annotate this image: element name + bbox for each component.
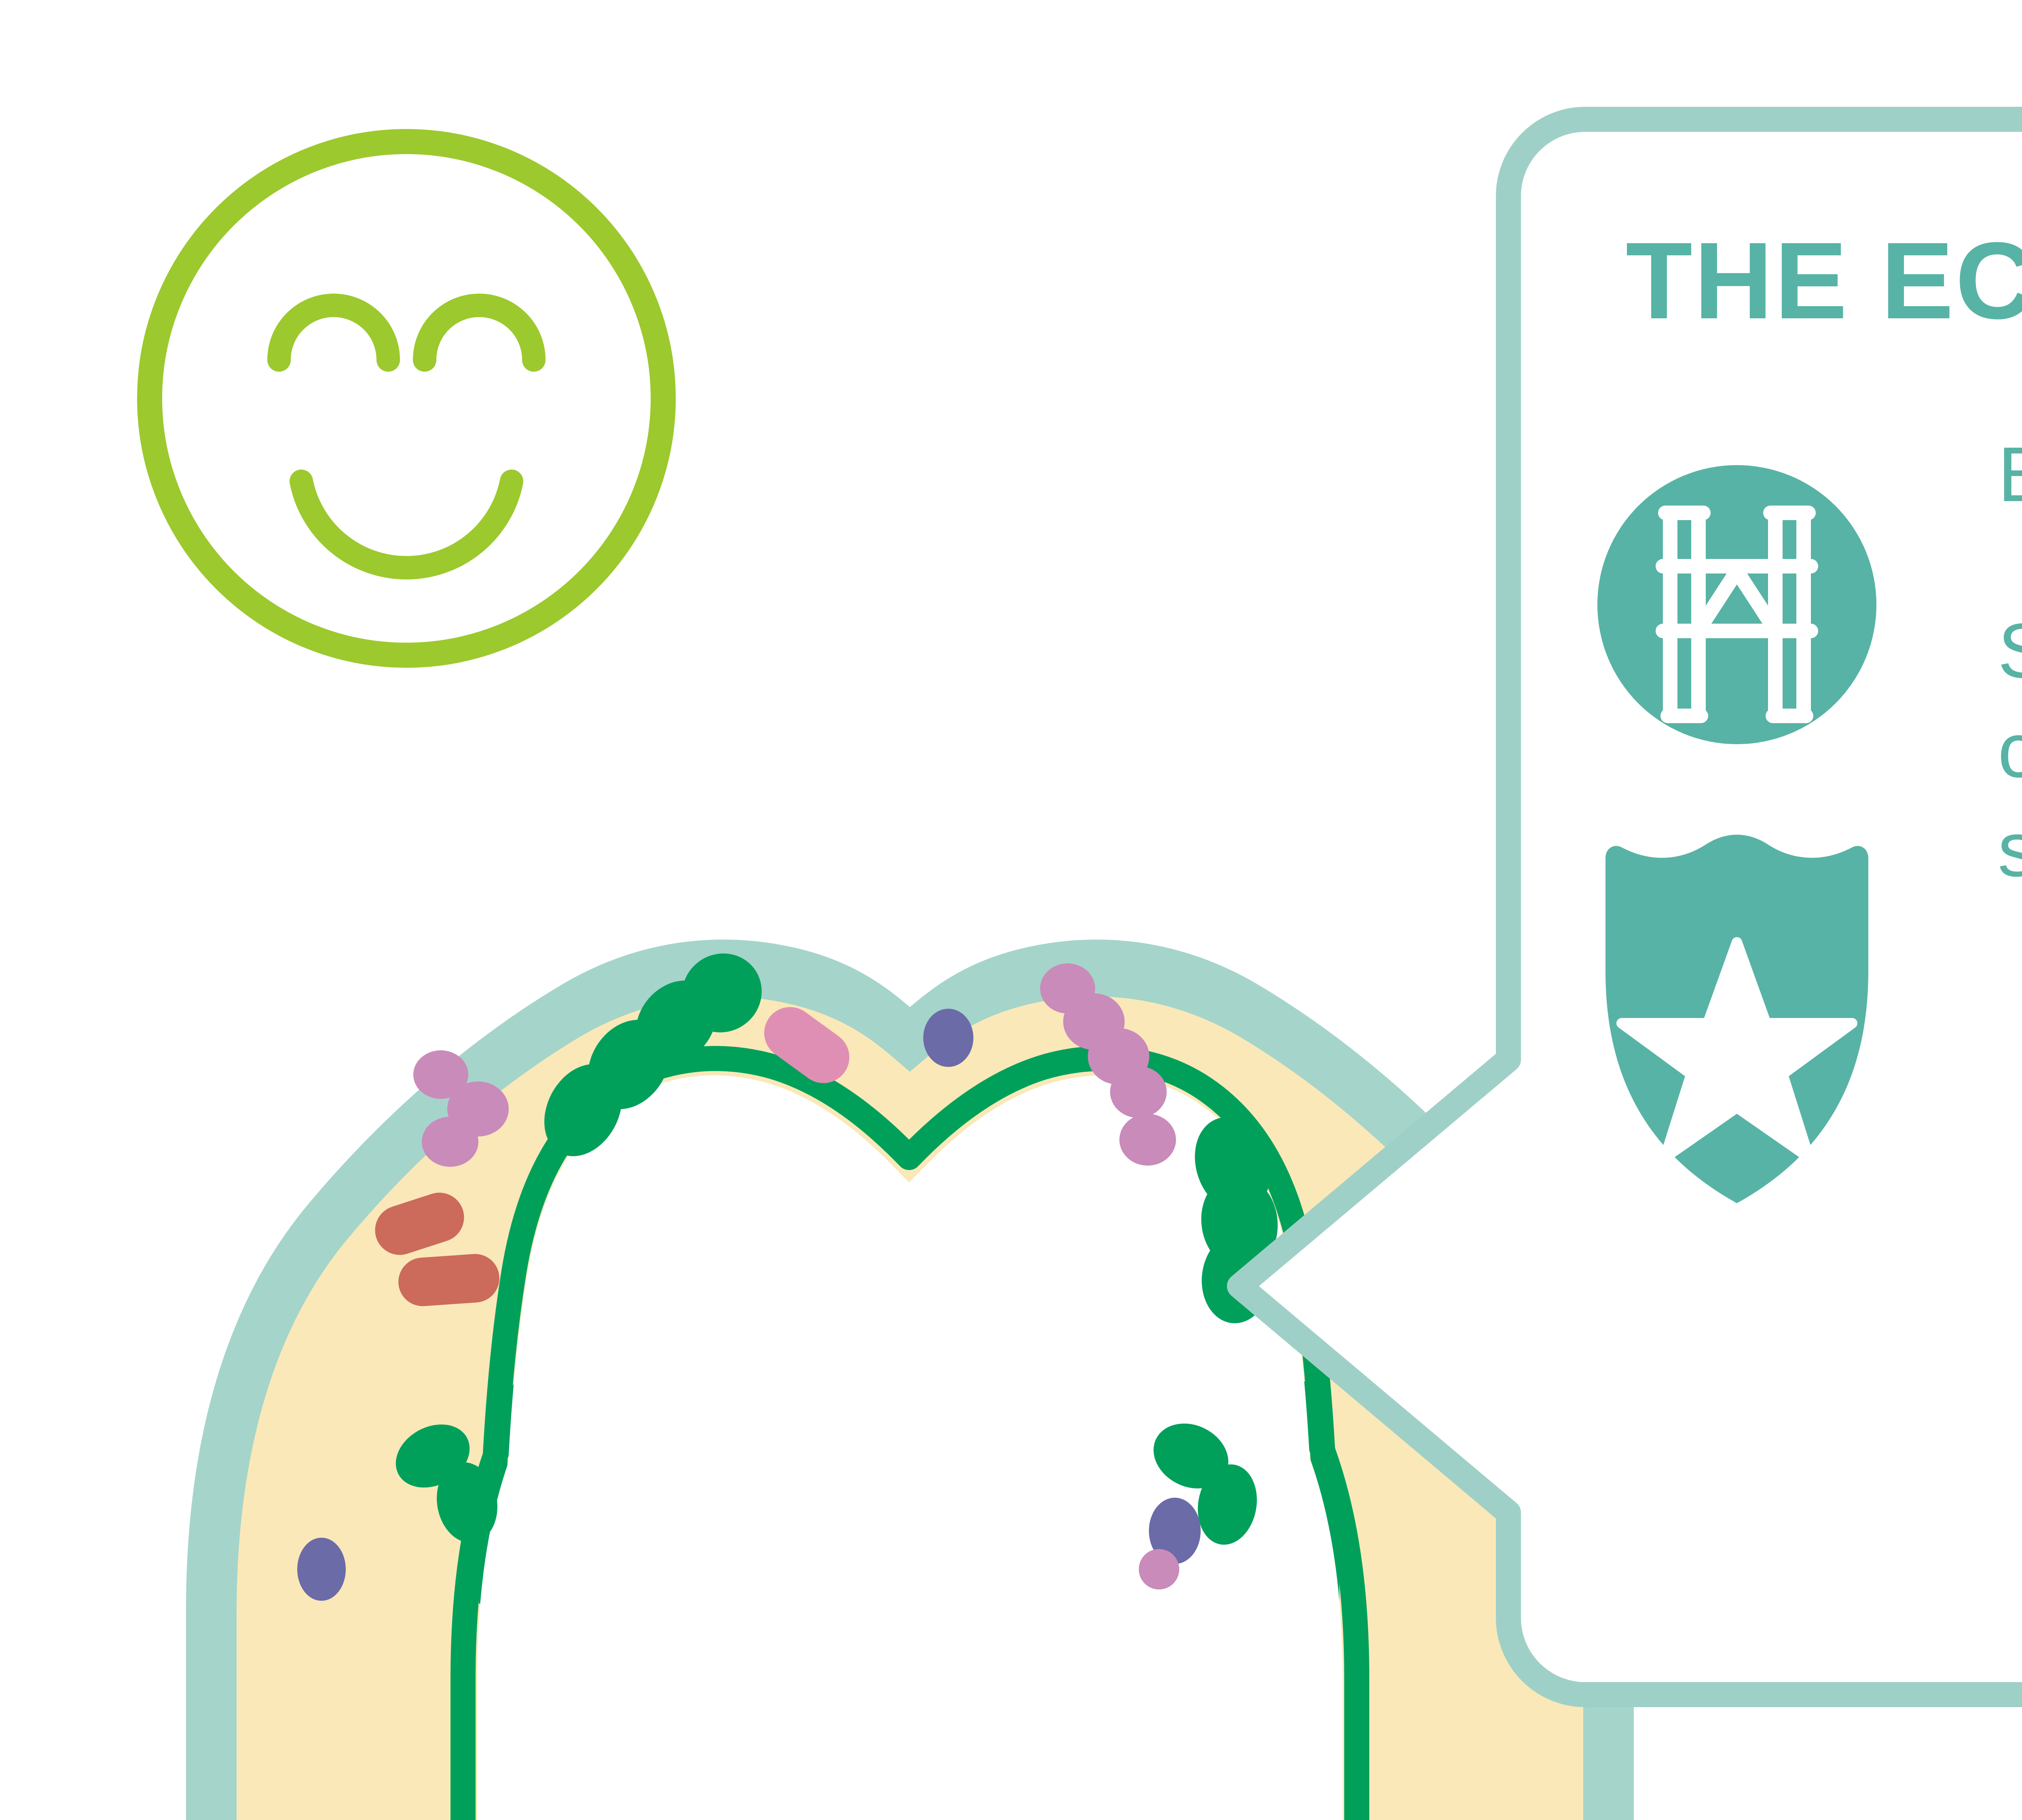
- list-item-label-biofilm: Biofilm: [1998, 413, 2022, 524]
- list-item-communities[interactable]: Specialized microbial communities: diffe…: [1626, 601, 2022, 899]
- bubble-content: THE ECOSYSTEM Biofilm Specialized microb…: [1626, 226, 2022, 899]
- spore-lower-left: [297, 1538, 346, 1601]
- scaffold-icon-slot: [1626, 413, 1905, 417]
- cocci-lower-right: [1139, 1549, 1179, 1589]
- list-item-label-communities: Specialized microbial communities: diffe…: [1998, 601, 2022, 899]
- list-item-biofilm[interactable]: Biofilm: [1626, 413, 2022, 524]
- page-title: THE ECOSYSTEM: [1626, 226, 2022, 336]
- bubble-rows: Biofilm Specialized microbial communitie…: [1626, 413, 2022, 899]
- shield-star-icon-slot: [1626, 601, 1905, 605]
- slide-canvas: THE ECOSYSTEM Biofilm Specialized microb…: [0, 0, 2022, 1820]
- spore-top-center: [923, 1009, 973, 1067]
- smiley-face-icon: [150, 142, 663, 655]
